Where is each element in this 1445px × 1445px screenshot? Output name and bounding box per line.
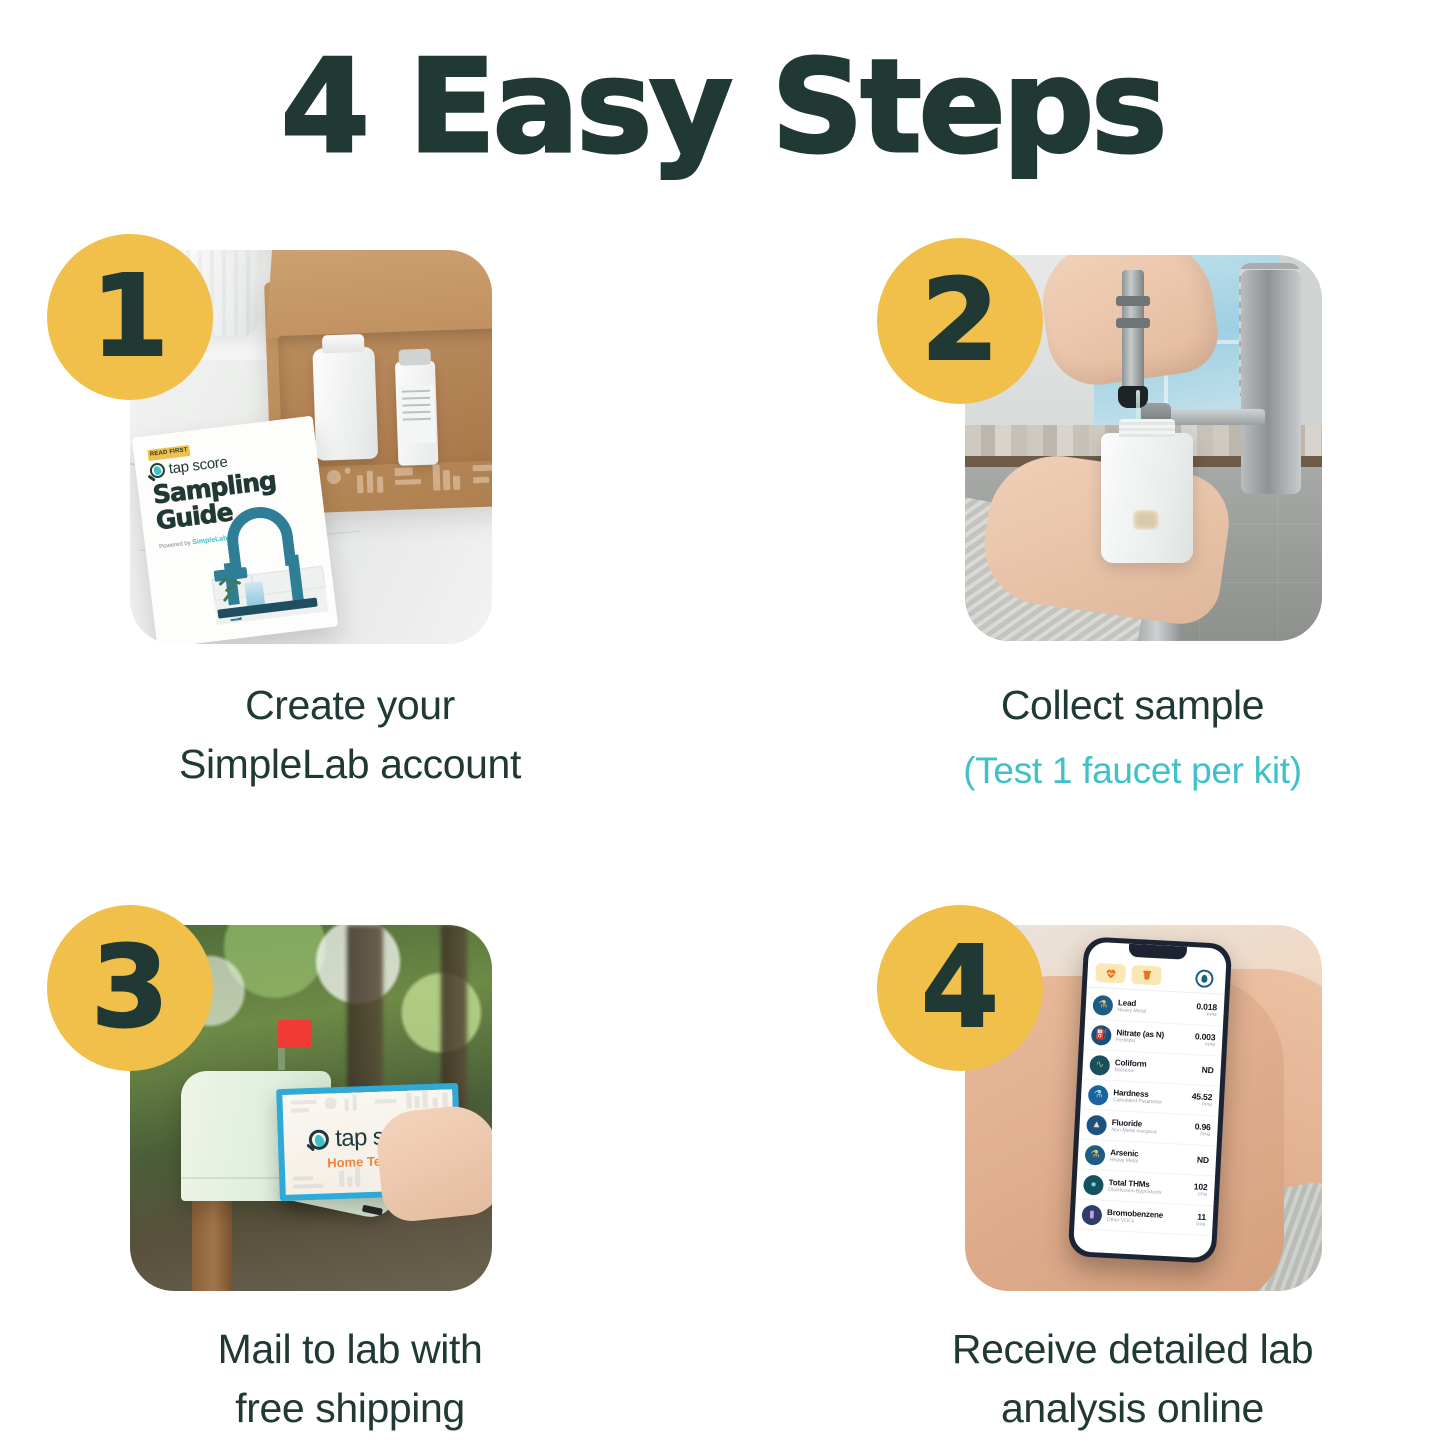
step-3-caption-line1: Mail to lab with [40,1320,660,1379]
magnifier-droplet-icon [309,1129,330,1150]
health-heart-icon[interactable] [1095,963,1126,984]
phone-notch [1128,943,1187,959]
sample-bottle [1101,433,1193,563]
hardness-icon: ⚗ [1087,1084,1108,1105]
nitrate-icon: ⛽ [1090,1024,1111,1045]
step-2-caption: Collect sample (Test 1 faucet per kit) [860,676,1405,798]
infographic-page: 4 Easy Steps [0,0,1445,1445]
step-1: READ FIRST tap score Sampling Guide Powe… [40,226,660,816]
sampling-probe [1122,270,1144,390]
result-value: 0.96 [1194,1122,1210,1132]
app-tab-bar [1086,957,1225,994]
step-2-subcaption: (Test 1 faucet per kit) [860,744,1405,798]
thms-icon: ● [1083,1174,1104,1195]
result-unit: PPM [1194,1041,1215,1048]
result-row[interactable]: ▮BromobenzeneOther VOCs11PPB [1074,1199,1213,1236]
result-label: Nitrate (as N)Fertilizer [1116,1028,1190,1047]
hand-holding-box [374,1102,492,1224]
result-measurement: 11PPB [1196,1212,1206,1227]
result-value: ND [1201,1065,1213,1075]
result-measurement: 45.52PPM [1191,1092,1212,1108]
step-4: ⚗LeadHeavy Metal0.018PPM⛽Nitrate (as N)F… [860,895,1405,1445]
result-value: 0.018 [1196,1002,1217,1013]
smartphone: ⚗LeadHeavy Metal0.018PPM⛽Nitrate (as N)F… [1067,936,1232,1263]
result-label: HardnessCalculated Parameter [1112,1087,1186,1106]
magnifier-droplet-icon [149,462,166,479]
lead-icon: ⚗ [1092,994,1113,1015]
result-unit: PPB [1193,1191,1207,1197]
result-measurement: ND [1201,1065,1213,1075]
step-3-caption-line2: free shipping [40,1379,660,1438]
result-measurement: 102PPB [1193,1182,1208,1198]
step-4-number: 4 [921,932,999,1044]
sample-vial-in-box [395,361,439,466]
ring-jewelry [1133,510,1159,530]
step-1-caption-line2: SimpleLab account [40,735,660,794]
result-measurement: 0.96PPM [1194,1122,1211,1138]
arsenic-icon: ⚗ [1084,1144,1105,1165]
coliform-icon: ∿ [1089,1054,1110,1075]
step-1-caption: Create your SimpleLab account [40,676,660,795]
step-3-number: 3 [91,932,169,1044]
powered-by-prefix: Powered by [159,540,193,550]
step-2-caption-line1: Collect sample [860,676,1405,735]
result-unit: PPM [1194,1131,1210,1137]
step-3-badge: 3 [47,905,213,1071]
step-2-number: 2 [921,265,999,377]
result-label: FluorideNon-Metal Inorganic [1111,1117,1190,1136]
step-2: 2 Collect sample (Test 1 faucet per kit) [860,226,1405,816]
steps-grid: READ FIRST tap score Sampling Guide Powe… [0,0,1445,1445]
step-4-caption-line2: analysis online [860,1379,1405,1438]
mailbox-flag [278,1020,312,1048]
faucet-illustration [203,494,329,625]
water-drop-eye-icon[interactable] [1195,968,1214,987]
kitchen-faucet [1241,270,1301,494]
result-unit: PPM [1196,1011,1217,1018]
result-measurement: 0.018PPM [1196,1002,1217,1018]
result-value: 11 [1196,1212,1206,1222]
result-value: 102 [1193,1182,1207,1192]
step-1-caption-line1: Create your [40,676,660,735]
result-measurement: 0.003PPM [1194,1032,1215,1048]
result-label: ColiformBacteria [1114,1058,1197,1078]
result-label: Total THMsDisinfection Byproducts [1108,1177,1189,1197]
results-list: ⚗LeadHeavy Metal0.018PPM⛽Nitrate (as N)F… [1074,989,1224,1236]
phone-screen: ⚗LeadHeavy Metal0.018PPM⛽Nitrate (as N)F… [1073,941,1227,1258]
step-3: tap score Home Testing 3 Mail to lab wit… [40,895,660,1445]
result-label: ArsenicHeavy Metal [1109,1147,1192,1167]
result-unit: PPB [1196,1222,1205,1228]
drinking-cup-icon[interactable] [1131,965,1162,986]
result-measurement: ND [1196,1155,1208,1165]
step-2-badge: 2 [877,238,1043,404]
result-value: ND [1196,1155,1208,1165]
bromobenzene-icon: ▮ [1081,1204,1102,1225]
step-3-caption: Mail to lab with free shipping [40,1320,660,1439]
result-label: LeadHeavy Metal [1117,998,1191,1017]
sample-bottle-in-box [312,347,378,461]
fluoride-icon: ▲ [1086,1114,1107,1135]
step-4-caption: Receive detailed lab analysis online [860,1320,1405,1439]
sampling-guide-booklet: READ FIRST tap score Sampling Guide Powe… [132,416,338,644]
step-4-caption-line1: Receive detailed lab [860,1320,1405,1379]
result-label: BromobenzeneOther VOCs [1106,1207,1191,1227]
step-1-badge: 1 [47,234,213,400]
result-value: 0.003 [1194,1032,1215,1043]
box-lid [266,250,492,338]
step-1-number: 1 [91,261,169,373]
result-value: 45.52 [1191,1092,1212,1103]
step-4-badge: 4 [877,905,1043,1071]
result-unit: PPM [1191,1101,1212,1108]
